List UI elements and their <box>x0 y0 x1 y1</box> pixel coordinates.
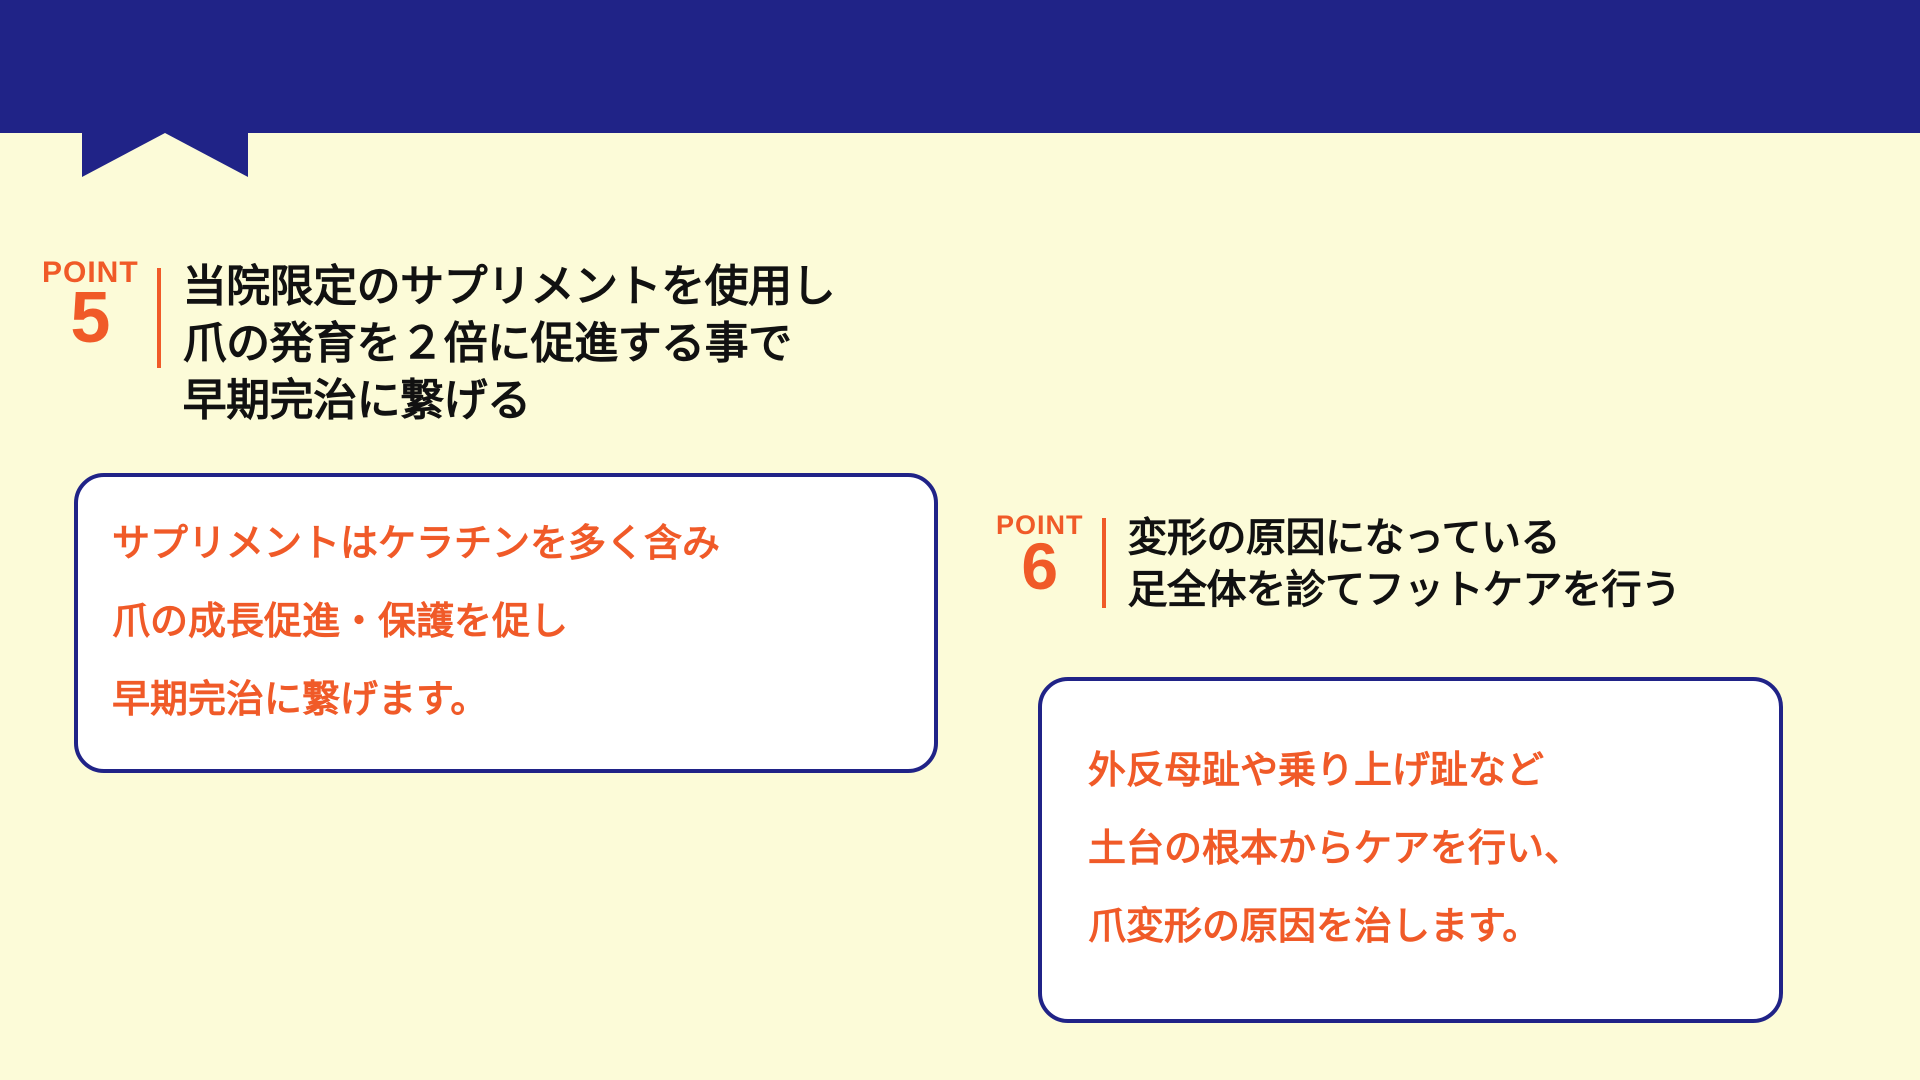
point-6-callout-box: 外反母趾や乗り上げ趾など 土台の根本からケアを行い、 爪変形の原因を治します。 <box>1038 677 1783 1023</box>
point-5-heading: 当院限定のサプリメントを使用し 爪の発育を２倍に促進する事で 早期完治に繋げる <box>183 258 1042 430</box>
point-6-number: 6 <box>996 535 1084 598</box>
header-notch-triangle <box>82 133 248 177</box>
point-6-heading: 変形の原因になっている 足全体を診てフットケアを行う <box>1128 512 1916 616</box>
point-5-number: 5 <box>42 284 139 352</box>
point-6-callout-text: 外反母趾や乗り上げ趾など 土台の根本からケアを行い、 爪変形の原因を治します。 <box>1088 733 1733 967</box>
point-5-callout-box: サプリメントはケラチンを多く含み 爪の成長促進・保護を促し 早期完治に繋げます。 <box>74 473 938 773</box>
point-5-badge: POINT 5 <box>42 258 157 352</box>
header-bar <box>0 0 1920 133</box>
slide-canvas: 美容外科・形成外科・美容皮膚科・皮膚科 はくさんクリニック 当院が選ばれるポイン… <box>0 0 1920 1080</box>
point-6-header: POINT 6 変形の原因になっている 足全体を診てフットケアを行う <box>996 512 1916 616</box>
point-6-badge: POINT 6 <box>996 512 1102 598</box>
point-5-divider <box>157 268 161 368</box>
point-5-header: POINT 5 当院限定のサプリメントを使用し 爪の発育を２倍に促進する事で 早… <box>42 258 1042 430</box>
point-6-divider <box>1102 518 1106 608</box>
point-5-callout-text: サプリメントはケラチンを多く含み 爪の成長促進・保護を促し 早期完治に繋げます。 <box>112 506 900 740</box>
